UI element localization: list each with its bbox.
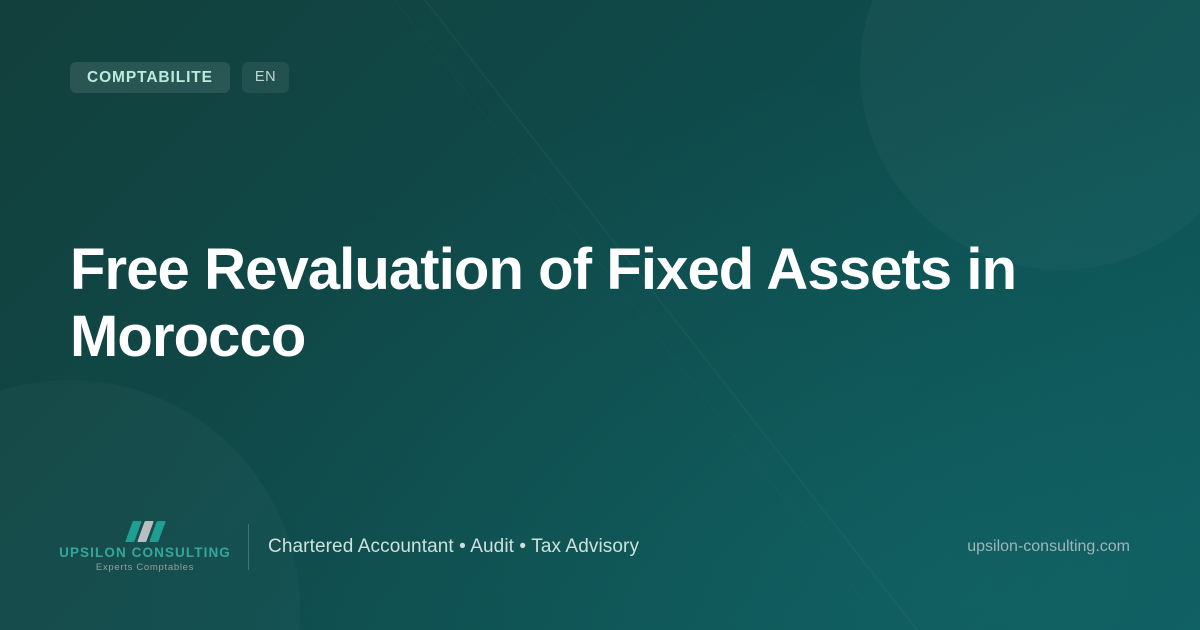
services-tagline: Chartered Accountant • Audit • Tax Advis… (268, 536, 639, 558)
logo-company-name: UPSILON CONSULTING (59, 546, 231, 561)
logo-company-subtitle: Experts Comptables (96, 563, 194, 573)
brand-logo[interactable]: UPSILON CONSULTING Experts Comptables (70, 520, 220, 573)
language-badge[interactable]: EN (242, 62, 289, 93)
website-url[interactable]: upsilon-consulting.com (967, 538, 1130, 556)
badge-row: COMPTABILITE EN (70, 62, 289, 93)
card-footer: UPSILON CONSULTING Experts Comptables Ch… (70, 516, 1130, 578)
card-content: COMPTABILITE EN Free Revaluation of Fixe… (0, 0, 1200, 630)
footer-divider (248, 524, 249, 570)
page-title: Free Revaluation of Fixed Assets in Moro… (70, 236, 1030, 371)
logo-mark-icon (129, 520, 162, 542)
og-card: COMPTABILITE EN Free Revaluation of Fixe… (0, 0, 1200, 630)
category-badge[interactable]: COMPTABILITE (70, 62, 230, 93)
